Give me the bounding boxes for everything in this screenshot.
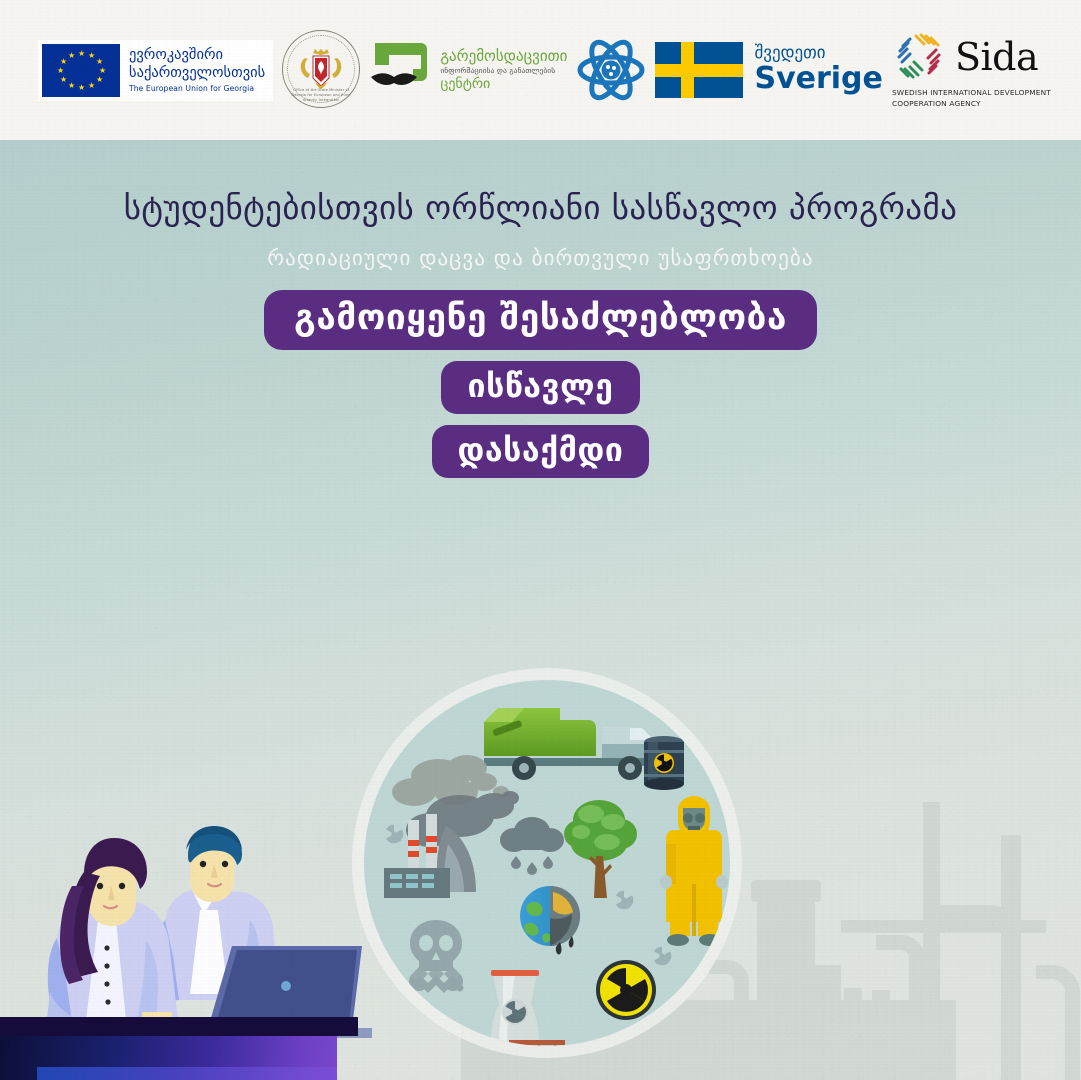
page-title: სტუდენტებისთვის ორწლიანი სასწავლო პროგრა… xyxy=(0,188,1081,227)
sweden-logo-ka-line: შვედეთი xyxy=(754,45,882,62)
logo-row: ★ ★ ★ ★ ★ ★ ★ ★ ★ ★ ★ ★ ევროკ xyxy=(0,30,1081,110)
desk-front-panel xyxy=(0,1036,337,1080)
sida-subtitle: SWEDISH INTERNATIONAL DEVELOPMENT COOPER… xyxy=(892,88,1051,109)
logo-european-union-for-georgia: ★ ★ ★ ★ ★ ★ ★ ★ ★ ★ ★ ★ ევროკ xyxy=(38,40,273,101)
logo-header-bar: ★ ★ ★ ★ ★ ★ ★ ★ ★ ★ ★ ★ ევროკ xyxy=(0,0,1081,140)
env-logo-line1: გარემოსდაცვითი xyxy=(440,49,567,65)
logo-sweden-sverige: შვედეთი Sverige xyxy=(655,42,882,98)
eu-stars-icon: ★ ★ ★ ★ ★ ★ ★ ★ ★ ★ ★ ★ xyxy=(42,44,120,97)
sweden-flag-icon xyxy=(655,42,743,98)
desk-surface xyxy=(0,1017,358,1036)
radiation-warning-sign-icon xyxy=(596,960,656,1020)
badge-learn[interactable]: ისწავლე xyxy=(441,361,639,414)
env-logo-line3: ცენტრი xyxy=(440,77,567,92)
environment-centre-mark-icon xyxy=(369,39,433,101)
eu-logo-text: ევროკავშირი საქართველოსთვის The European… xyxy=(120,47,265,93)
poster-body: სტუდენტებისთვის ორწლიანი სასწავლო პროგრა… xyxy=(0,140,1081,1080)
hazmat-suit-person-icon xyxy=(660,796,728,946)
seal-caption: Office of the State Minister of Georgia … xyxy=(289,88,353,103)
poster-canvas: ★ ★ ★ ★ ★ ★ ★ ★ ★ ★ ★ ★ ევროკ xyxy=(0,0,1081,1080)
georgia-coat-of-arms-icon xyxy=(295,46,347,90)
sweden-logo-en-line: Sverige xyxy=(754,63,882,95)
logo-sida: Sida SWEDISH INTERNATIONAL DEVELOPMENT C… xyxy=(892,30,1051,109)
skull-and-crossbones-icon xyxy=(409,920,463,991)
eu-flag-icon: ★ ★ ★ ★ ★ ★ ★ ★ ★ ★ ★ ★ xyxy=(42,44,120,97)
sida-mark-icon xyxy=(892,30,948,84)
logo-environmental-information-centre: გარემოსდაცვითი ინფორმაციისა და განათლები… xyxy=(369,39,567,101)
eu-logo-ka-line1: ევროკავშირი xyxy=(129,47,265,65)
rain-cloud-icon xyxy=(500,817,564,875)
env-logo-line2: ინფორმაციისა და განათლების xyxy=(440,66,567,75)
logo-government-of-georgia-seal: Office of the State Minister of Georgia … xyxy=(282,30,360,110)
sida-top-row: Sida xyxy=(892,30,1038,84)
eu-logo-ka-line2: საქართველოსთვის xyxy=(129,65,265,83)
polluted-earth-globe-icon xyxy=(520,886,580,955)
eu-logo-en-line: The European Union for Georgia xyxy=(129,84,265,93)
sida-wordmark: Sida xyxy=(948,38,1038,76)
female-student xyxy=(48,838,178,1024)
page-subtitle: რადიაციული დაცვა და ბირთვული უსაფრთხოება xyxy=(0,246,1081,270)
sida-subtitle-line1: SWEDISH INTERNATIONAL DEVELOPMENT xyxy=(892,88,1051,99)
nuclear-cooling-tower-icon xyxy=(491,970,565,1058)
radioactive-barrel-icon xyxy=(644,736,684,790)
sweden-logo-text: შვედეთი Sverige xyxy=(743,45,882,95)
raindrops xyxy=(511,856,553,875)
cta-badge-group: გამოიყენე შესაძლებლობა ისწავლე დასაქმდი xyxy=(0,290,1081,488)
environment-centre-text: გარემოსდაცვითი ინფორმაციისა და განათლები… xyxy=(433,49,567,92)
tree-icon xyxy=(564,800,637,898)
badge-seize-opportunity[interactable]: გამოიყენე შესაძლებლობა xyxy=(264,290,817,350)
badge-get-employed[interactable]: დასაქმდი xyxy=(432,425,650,478)
sida-subtitle-line2: COOPERATION AGENCY xyxy=(892,99,1051,110)
atom-icon xyxy=(576,35,646,105)
garbage-truck-icon xyxy=(484,708,662,780)
